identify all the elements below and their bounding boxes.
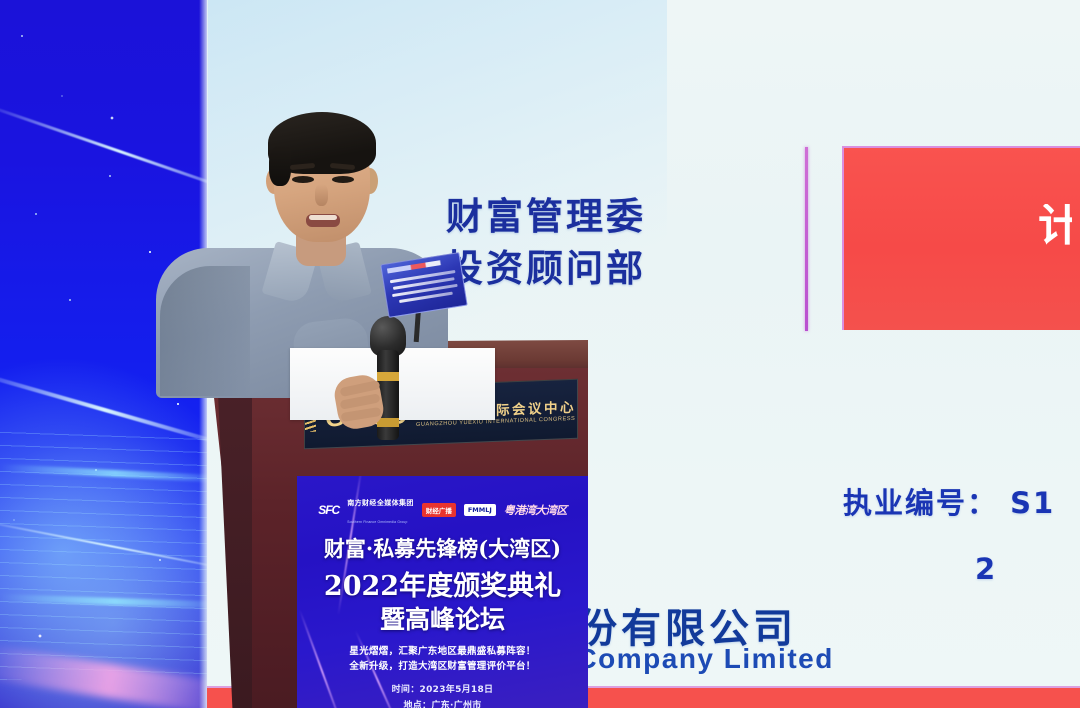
slide-license-second-line: 2 <box>975 552 997 586</box>
speaker-hair-sideburn <box>269 146 291 186</box>
nose <box>315 184 328 206</box>
banner-event-location: 地点：广东·广州市 <box>297 698 588 708</box>
eye-right <box>332 176 354 183</box>
banner-event-time: 时间：2023年5月18日 <box>297 682 588 695</box>
sfc-name-en: Southern Finance Omnimedia Group <box>347 520 407 524</box>
sfc-name-cn: 南方财经全媒体集团 <box>347 499 414 507</box>
teeth <box>309 215 337 220</box>
radio-badge-white: FMMLJ <box>464 504 496 516</box>
red-panel-glyph: 计 <box>1038 204 1072 250</box>
slide-department-line-1: 财富管理委 <box>446 186 646 240</box>
slide-red-panel: 计 <box>842 146 1080 330</box>
slide-license-number: 执业编号： S1 <box>843 480 1055 522</box>
slide-department-line-2: 投资顾问部 <box>446 238 646 292</box>
banner-subtitle-line-1: 星光熠熠，汇聚广东地区最鼎盛私募阵容！ <box>297 643 588 657</box>
eye-left <box>292 176 314 183</box>
banner-title-line-3: 暨高峰论坛 <box>297 600 588 636</box>
microphone-gold-ring <box>377 418 399 427</box>
radio-badge-red: 财经广播 <box>422 503 456 517</box>
calligraphy-logo: 粤港湾大湾区 <box>504 502 567 518</box>
banner-sponsor-logo-row: SFC 南方财经全媒体集团 Southern Finance Omnimedia… <box>297 492 588 528</box>
speaker-figure <box>150 98 450 388</box>
sfc-logo-icon: SFC <box>318 503 339 517</box>
conference-photo-scene: 财富管理委 投资顾问部 计 执业编号： S1 2 股份有限公司 es Compa… <box>0 0 1080 708</box>
banner-title-line-1: 财富·私募先锋榜(大湾区) <box>297 533 588 563</box>
event-banner: SFC 南方财经全媒体集团 Southern Finance Omnimedia… <box>297 476 588 708</box>
slide-vertical-divider <box>805 147 808 331</box>
banner-subtitle-line-2: 全新升级，打造大湾区财富管理评价平台！ <box>297 658 588 672</box>
microphone-gold-ring <box>377 372 399 381</box>
shirt-shadow <box>160 266 250 396</box>
banner-title-line-2: 2022年度颁奖典礼 <box>297 564 588 603</box>
